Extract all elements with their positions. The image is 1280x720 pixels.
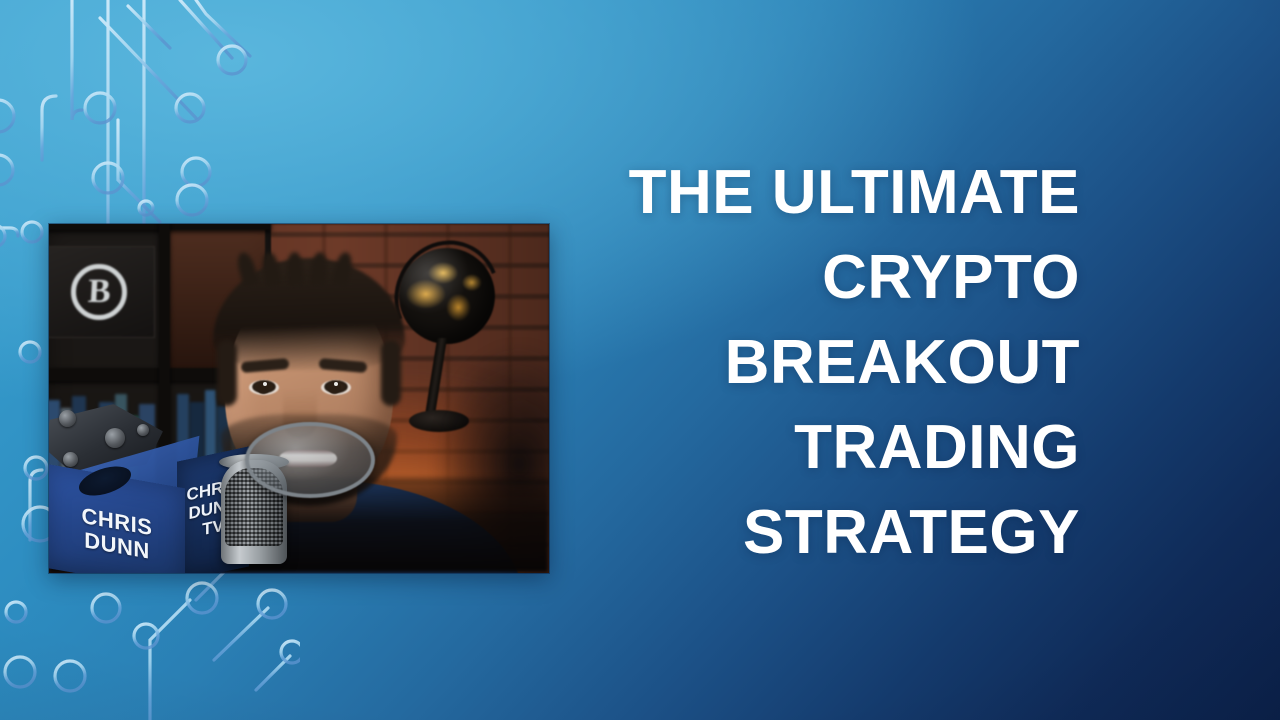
title-block: THE ULTIMATE CRYPTO BREAKOUT TRADING STR… [560, 150, 1080, 575]
title-line-3: BREAKOUT [560, 320, 1080, 405]
eye-glint-left [263, 382, 267, 386]
title-line-4: TRADING [560, 405, 1080, 490]
title-line-5: STRATEGY [560, 490, 1080, 575]
title-line-1: THE ULTIMATE [560, 150, 1080, 235]
pop-filter [245, 422, 375, 498]
microphone-assembly: CHRIS DUNN CHRIS DUNN TV [49, 402, 379, 573]
eye-glint-right [334, 382, 338, 386]
bitcoin-logo-plaque [49, 246, 155, 338]
thumbnail-canvas: CHRIS DUNN CHRIS DUNN TV THE ULTIMATE CR… [0, 0, 1280, 720]
sideburn-left [217, 340, 237, 406]
video-still: CHRIS DUNN CHRIS DUNN TV [49, 224, 549, 573]
title-line-2: CRYPTO [560, 235, 1080, 320]
sideburn-right [381, 340, 401, 406]
bitcoin-icon [71, 264, 127, 320]
video-scene: CHRIS DUNN CHRIS DUNN TV [49, 224, 549, 573]
